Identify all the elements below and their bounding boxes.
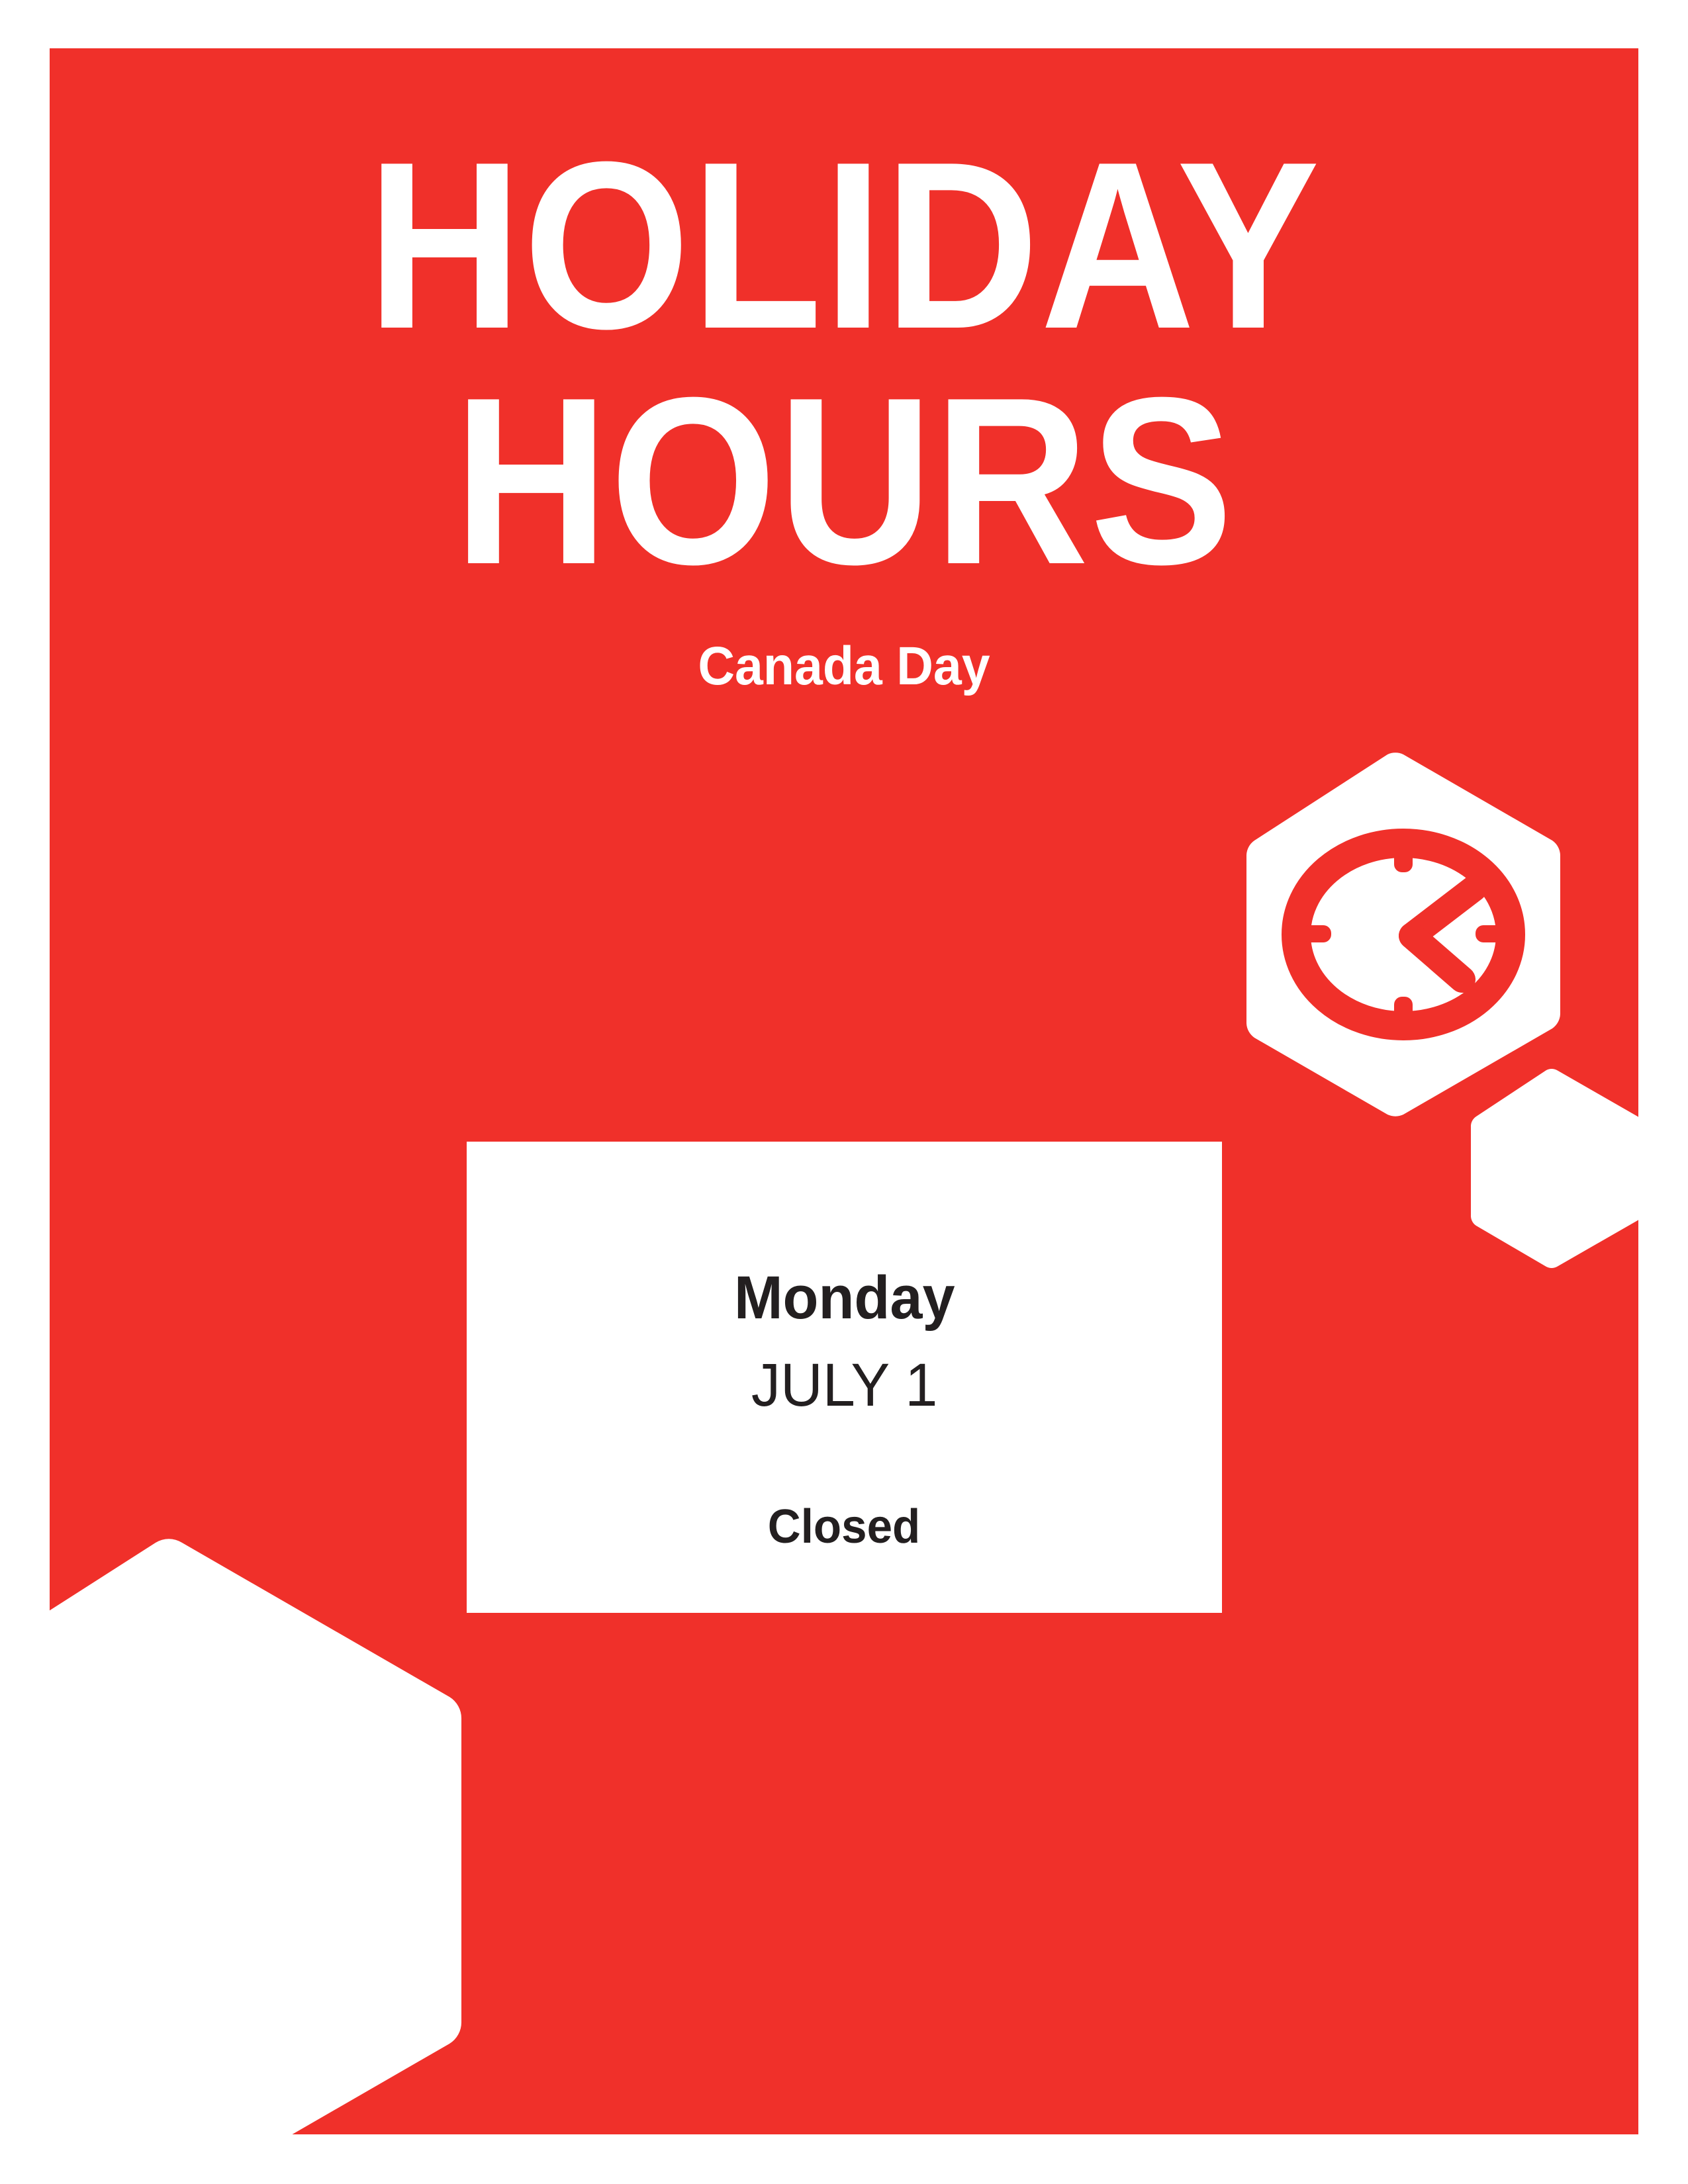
hexagon-shape-large-icon [50, 1536, 473, 2134]
hexagon-shape-small-icon [1468, 1068, 1638, 1269]
card-day-label: Monday [734, 1267, 955, 1328]
poster-red-panel: HOLIDAY HOURS Canada Day [50, 48, 1638, 2134]
card-status-label: Closed [768, 1503, 920, 1551]
poster-subtitle: Canada Day [97, 639, 1591, 694]
holiday-hours-poster: HOLIDAY HOURS Canada Day [0, 0, 1688, 2184]
headline-line-1: HOLIDAY [129, 128, 1559, 363]
headline-block: HOLIDAY HOURS Canada Day [50, 128, 1638, 694]
card-date-label: JULY 1 [751, 1355, 937, 1416]
clock-hexagon-badge [1241, 749, 1566, 1120]
clock-icon [1241, 749, 1566, 1120]
hours-info-card: Monday JULY 1 Closed [467, 1142, 1222, 1613]
headline-line-2: HOURS [129, 363, 1559, 599]
